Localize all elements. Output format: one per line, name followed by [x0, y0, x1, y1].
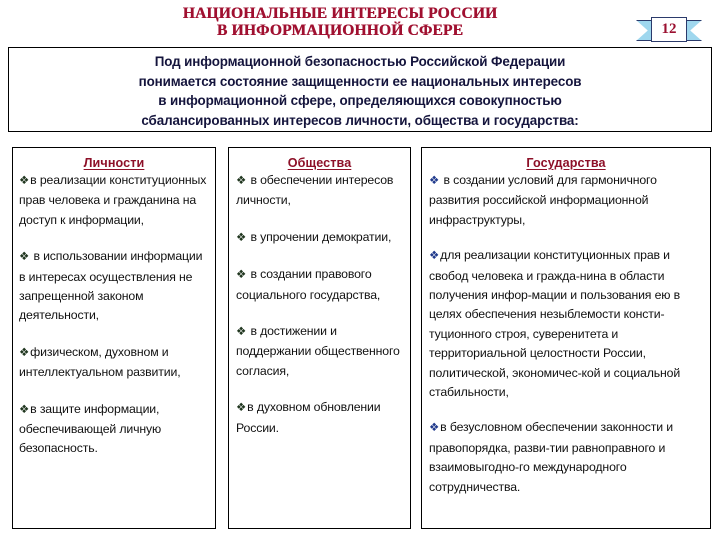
definition-box: Под информационной безопасностью Российс… [8, 47, 712, 132]
florette-bullet-icon: ❖ [429, 422, 439, 434]
page-number-badge: 12 [636, 17, 702, 42]
column-personality-list: ❖в реализации конституционных прав челов… [13, 171, 215, 459]
florette-bullet-icon: ❖ [19, 404, 29, 416]
list-item-text: в создании условий для гармоничного разв… [429, 173, 657, 227]
column-state-heading: Государства [422, 156, 710, 170]
florette-bullet-icon: ❖ [236, 269, 246, 281]
list-item: ❖в безусловном обеспечении законности и … [429, 418, 704, 497]
column-society-heading: Общества [229, 156, 410, 170]
list-item-text: в безусловном обеспечении законности и п… [429, 420, 673, 493]
definition-line-1: Под информационной безопасностью Российс… [15, 52, 705, 72]
list-item: ❖ в достижении и поддержании общественно… [236, 322, 405, 381]
florette-bullet-icon: ❖ [236, 175, 246, 187]
list-item: ❖физическом, духовном и интеллектуальном… [19, 343, 211, 383]
definition-line-4: сбалансированных интересов личности, общ… [15, 111, 705, 131]
list-item-text: в обеспечении интересов личности, [236, 173, 393, 207]
list-item: ❖для реализации конституционных прав и с… [429, 246, 704, 402]
florette-bullet-icon: ❖ [19, 251, 29, 263]
list-item: ❖ в создании условий для гармоничного ра… [429, 171, 704, 230]
list-item-text: в достижении и поддержании общественного… [236, 324, 400, 378]
list-item-text: в создании правового социального государ… [236, 267, 380, 301]
page-title-line-1: НАЦИОНАЛЬНЫЕ ИНТЕРЕСЫ РОССИИ [60, 5, 620, 22]
page-number-plate: 12 [651, 17, 687, 42]
list-item: ❖ в создании правового социального госуд… [236, 265, 405, 305]
column-personality: Личности ❖в реализации конституционных п… [12, 147, 216, 529]
list-item-text: в духовном обновлении России. [236, 400, 380, 434]
list-item: ❖в духовном обновлении России. [236, 398, 405, 438]
page-title: НАЦИОНАЛЬНЫЕ ИНТЕРЕСЫ РОССИИ В ИНФОРМАЦИ… [60, 5, 620, 39]
list-item: ❖ в обеспечении интересов личности, [236, 171, 405, 211]
list-item-text: физическом, духовном и интеллектуальном … [19, 345, 180, 379]
column-state: Государства ❖ в создании условий для гар… [421, 147, 711, 529]
list-item-text: в использовании информации в интересах о… [19, 249, 202, 322]
florette-bullet-icon: ❖ [236, 402, 246, 414]
column-personality-heading: Личности [13, 156, 215, 170]
florette-bullet-icon: ❖ [19, 175, 29, 187]
column-society: Общества ❖ в обеспечении интересов лично… [228, 147, 411, 529]
page-title-line-2: В ИНФОРМАЦИОННОЙ СФЕРЕ [60, 22, 620, 39]
definition-line-3: в информационной сфере, определяющихся с… [15, 91, 705, 111]
page-number-label: 12 [662, 22, 677, 37]
list-item-text: в защите информации, обеспечивающей личн… [19, 402, 161, 456]
list-item-text: для реализации конституционных прав и св… [429, 248, 680, 399]
list-item: ❖в реализации конституционных прав челов… [19, 171, 211, 230]
florette-bullet-icon: ❖ [19, 347, 29, 359]
definition-line-2: понимается состояние защищенности ее нац… [15, 72, 705, 92]
list-item-text: в упрочении демократии, [247, 230, 391, 244]
florette-bullet-icon: ❖ [236, 232, 246, 244]
slide-header: НАЦИОНАЛЬНЫЕ ИНТЕРЕСЫ РОССИИ В ИНФОРМАЦИ… [0, 0, 720, 46]
florette-bullet-icon: ❖ [429, 250, 439, 262]
list-item: ❖в защите информации, обеспечивающей лич… [19, 400, 211, 459]
florette-bullet-icon: ❖ [236, 326, 246, 338]
list-item: ❖ в упрочении демократии, [236, 228, 405, 248]
list-item-text: в реализации конституционных прав челове… [19, 173, 206, 227]
column-society-list: ❖ в обеспечении интересов личности, ❖ в … [229, 171, 410, 438]
column-state-list: ❖ в создании условий для гармоничного ра… [422, 171, 710, 497]
list-item: ❖ в использовании информации в интересах… [19, 247, 211, 326]
definition-text: Под информационной безопасностью Российс… [15, 52, 705, 130]
florette-bullet-icon: ❖ [429, 175, 439, 187]
